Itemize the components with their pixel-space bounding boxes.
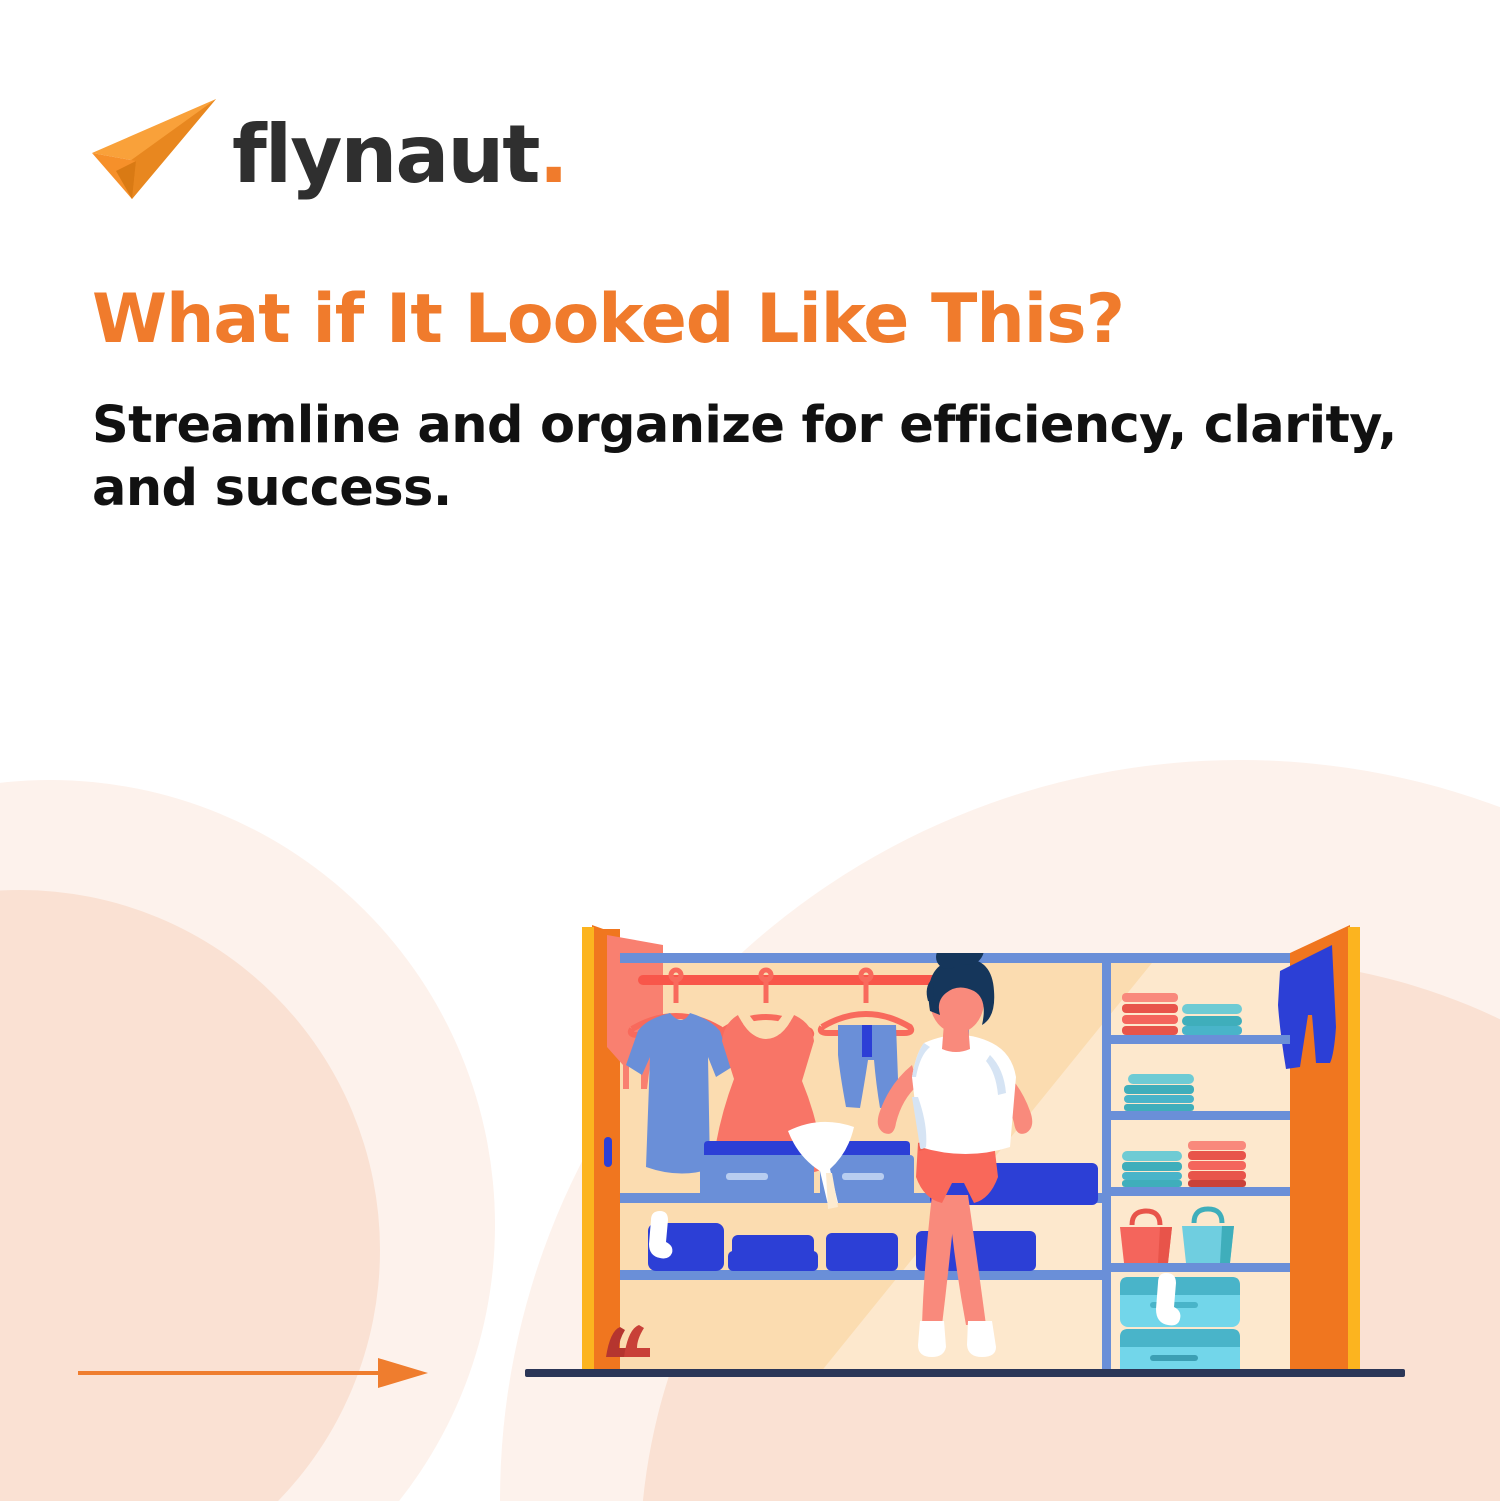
right-arrow-icon — [78, 1352, 428, 1394]
tshirt — [912, 1035, 1016, 1154]
hair-bun-2 — [936, 945, 960, 969]
brand-wordmark: flynaut. — [232, 115, 567, 195]
folded-clothes-teal-3 — [1122, 1151, 1182, 1187]
organized-closet-illustration — [520, 915, 1420, 1385]
brand-dot: . — [539, 108, 567, 201]
circle-inner-left — [0, 890, 380, 1501]
shelf-2 — [1111, 1111, 1291, 1120]
closet-svg — [520, 915, 1420, 1385]
poster-canvas: flynaut. What if It Looked Like This? St… — [0, 0, 1500, 1501]
shelf-low — [620, 1270, 1104, 1280]
divider-right — [1102, 953, 1111, 1373]
floor-line — [525, 1369, 1405, 1377]
sock-left — [918, 1321, 946, 1357]
shelf-3 — [1111, 1187, 1291, 1196]
door-handle[interactable] — [604, 1137, 612, 1167]
page-subtitle: Streamline and organize for efficiency, … — [92, 395, 1397, 520]
brand-logo[interactable]: flynaut. — [88, 96, 508, 206]
folded-clothes-teal — [1182, 1004, 1242, 1035]
page-headline: What if It Looked Like This? — [92, 286, 1392, 354]
teal-storage-boxes — [1120, 1277, 1240, 1377]
brand-name: flynaut — [232, 108, 539, 201]
paper-plane-icon — [88, 99, 218, 203]
right-door[interactable] — [1278, 925, 1360, 1373]
hanging-rail — [638, 975, 958, 985]
sock-right — [967, 1321, 996, 1357]
shelf-4 — [1111, 1263, 1291, 1272]
folded-clothes-red-3 — [1188, 1141, 1246, 1187]
arrow-svg — [78, 1352, 428, 1394]
folded-clothes-teal-2 — [1124, 1074, 1194, 1111]
shelf-1 — [1111, 1035, 1291, 1044]
